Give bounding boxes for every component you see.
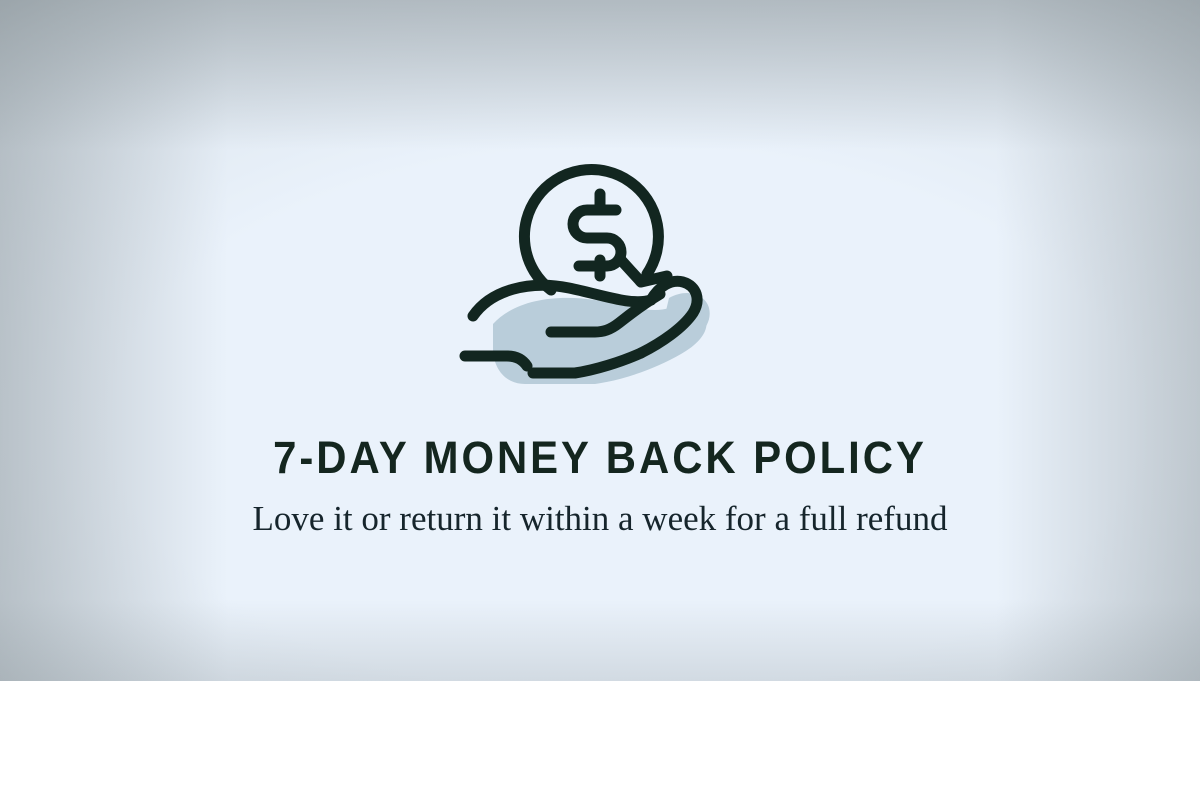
promo-banner: 7-DAY MONEY BACK POLICY Love it or retur… [0, 0, 1200, 800]
footer-bar: Rydell (701) 787-6259 rydelltoyota.com [0, 681, 1200, 800]
hero-panel: 7-DAY MONEY BACK POLICY Love it or retur… [0, 0, 1200, 681]
hand-holding-money-return-icon [455, 148, 745, 398]
dollar-sign-glyph [573, 194, 621, 276]
page-subtitle: Love it or return it within a week for a… [240, 496, 960, 541]
page-title: 7-DAY MONEY BACK POLICY [42, 432, 1158, 484]
